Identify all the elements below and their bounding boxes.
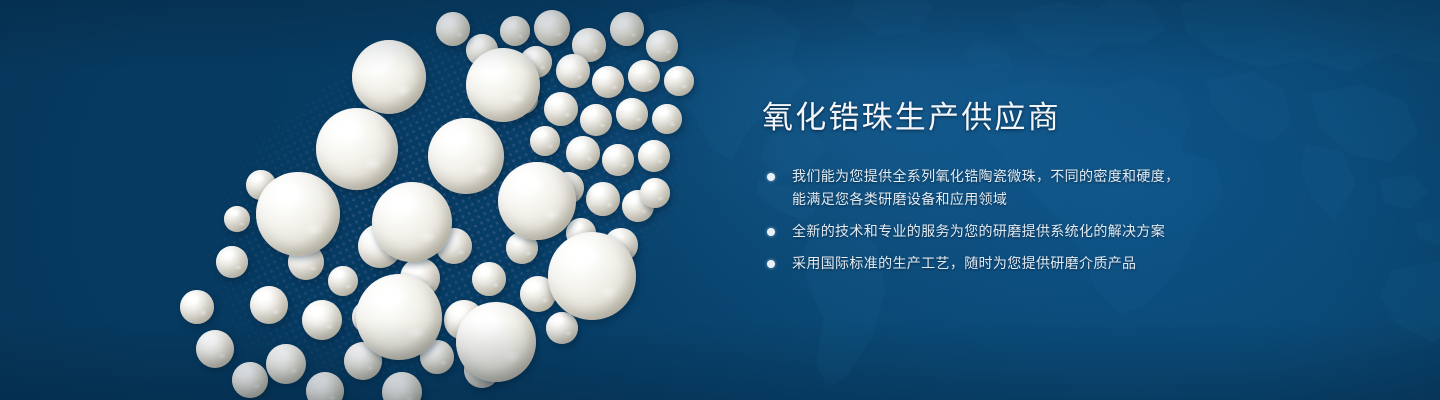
bullet-dot-icon — [767, 228, 775, 236]
banner-copy: 氧化锆珠生产供应商 我们能为您提供全系列氧化锆陶瓷微珠，不同的密度和硬度， 能满… — [762, 100, 1402, 275]
list-item-line: 全新的技术和专业的服务为您的研磨提供系统化的解决方案 — [792, 220, 1402, 243]
bullet-dot-icon — [767, 173, 775, 181]
hero-banner: 氧化锆珠生产供应商 我们能为您提供全系列氧化锆陶瓷微珠，不同的密度和硬度， 能满… — [0, 0, 1440, 400]
bullet-dot-icon — [767, 260, 775, 268]
zirconia-beads-image — [0, 0, 760, 400]
list-item: 全新的技术和专业的服务为您的研磨提供系统化的解决方案 — [762, 220, 1402, 243]
halftone-dot-texture — [0, 0, 885, 400]
list-item-line: 我们能为您提供全系列氧化锆陶瓷微珠，不同的密度和硬度， — [792, 165, 1402, 188]
list-item-line: 采用国际标准的生产工艺，随时为您提供研磨介质产品 — [792, 252, 1402, 275]
list-item: 我们能为您提供全系列氧化锆陶瓷微珠，不同的密度和硬度， 能满足您各类研磨设备和应… — [762, 165, 1402, 211]
feature-list: 我们能为您提供全系列氧化锆陶瓷微珠，不同的密度和硬度， 能满足您各类研磨设备和应… — [762, 165, 1402, 275]
page-title: 氧化锆珠生产供应商 — [762, 100, 1402, 137]
list-item-line: 能满足您各类研磨设备和应用领域 — [792, 188, 1402, 211]
list-item: 采用国际标准的生产工艺，随时为您提供研磨介质产品 — [762, 252, 1402, 275]
